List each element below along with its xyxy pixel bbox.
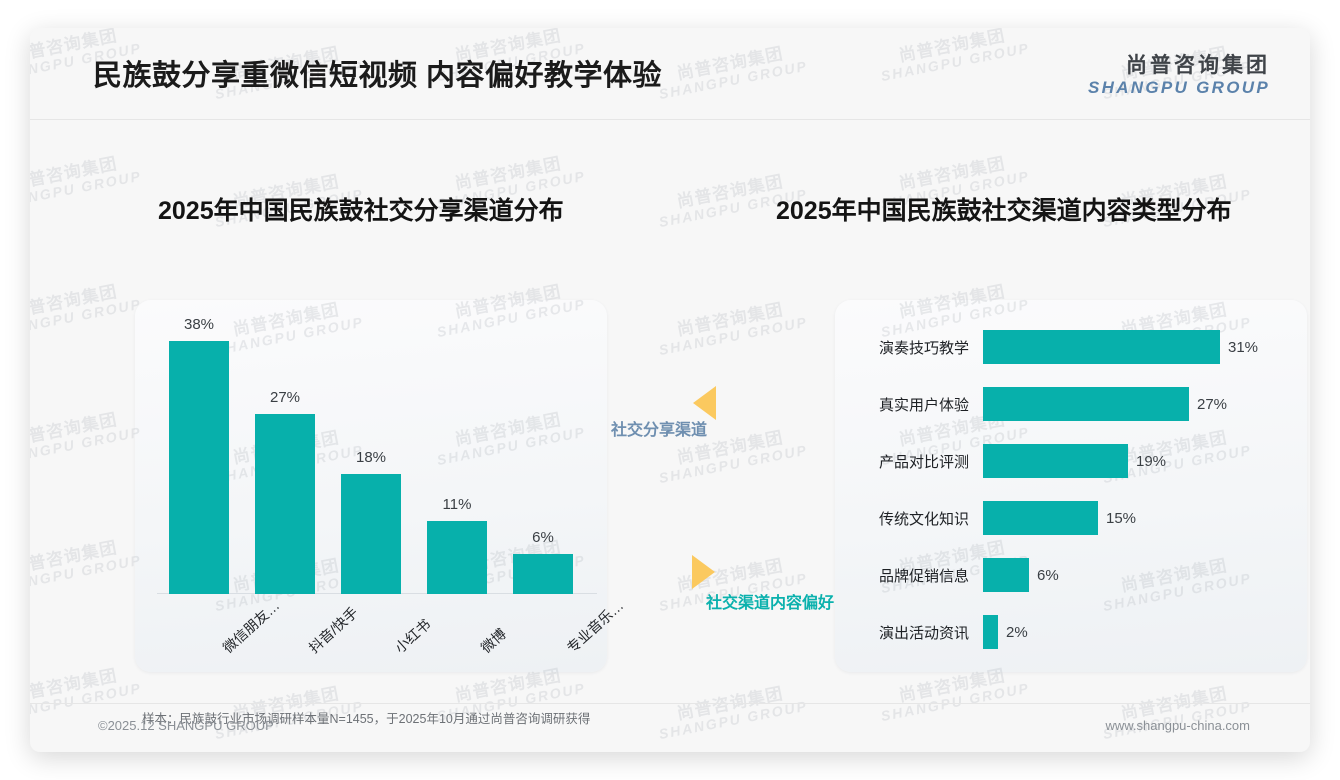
right-chart-title: 2025年中国民族鼓社交渠道内容类型分布 (776, 191, 1232, 227)
column-category-label: 小红书 (390, 643, 403, 658)
watermark-text: 尚普咨询集团SHANGPU GROUP (30, 278, 143, 341)
watermark-text: 尚普咨询集团SHANGPU GROUP (30, 150, 143, 213)
bar-row: 产品对比评测19% (835, 444, 1307, 478)
bar-track: 15% (983, 501, 1307, 535)
triangle-right-icon (692, 555, 715, 589)
column-value-label: 18% (341, 449, 401, 466)
column-bar[interactable] (255, 414, 315, 594)
column-value-label: 38% (169, 316, 229, 333)
bar-category-label: 真实用户体验 (835, 394, 983, 415)
column-category-label: 微信朋友… (218, 643, 231, 658)
bar-track: 6% (983, 558, 1307, 592)
copyright-text: ©2025.12 SHANGPU GROUP (98, 718, 274, 733)
bar-category-label: 演奏技巧教学 (835, 337, 983, 358)
column-item: 6% (513, 314, 573, 594)
column-bar[interactable] (169, 341, 229, 594)
bar-row: 演奏技巧教学31% (835, 330, 1307, 364)
annotation-social-share-channel: 社交分享渠道 (693, 386, 716, 420)
left-chart-title: 2025年中国民族鼓社交分享渠道分布 (158, 191, 564, 227)
annotation-content-preference: 社交渠道内容偏好 (692, 555, 715, 589)
bar-value-label: 2% (1006, 624, 1028, 641)
bar-fill[interactable] (983, 615, 998, 649)
bar-value-label: 27% (1197, 396, 1227, 413)
column-item: 11% (427, 314, 487, 594)
watermark-text: 尚普咨询集团SHANGPU GROUP (30, 406, 143, 469)
bar-category-label: 演出活动资讯 (835, 622, 983, 643)
bar-row: 演出活动资讯2% (835, 615, 1307, 649)
watermark-text: 尚普咨询集团SHANGPU GROUP (30, 534, 143, 597)
bar-row: 品牌促销信息6% (835, 558, 1307, 592)
watermark-text: 尚普咨询集团SHANGPU GROUP (654, 296, 809, 359)
column-value-label: 27% (255, 389, 315, 406)
slide-frame: 尚普咨询集团SHANGPU GROUP尚普咨询集团SHANGPU GROUP尚普… (30, 28, 1310, 752)
bar-track: 31% (983, 330, 1307, 364)
column-category-label: 微博 (476, 643, 489, 658)
logo-english-text: SHANGPU GROUP (1088, 78, 1270, 98)
bar-value-label: 31% (1228, 339, 1258, 356)
slide-footer: ©2025.12 SHANGPU GROUP www.shangpu-china… (30, 703, 1310, 752)
column-chart-plot-area: 38%27%18%11%6% (157, 314, 597, 594)
social-share-channel-column-chart: 38%27%18%11%6% 微信朋友…抖音/快手小红书微博专业音乐… (135, 300, 607, 672)
annotation-label: 社交分享渠道 (611, 416, 707, 440)
bar-row: 传统文化知识15% (835, 501, 1307, 535)
column-item: 18% (341, 314, 401, 594)
bar-fill[interactable] (983, 387, 1189, 421)
column-bar[interactable] (341, 474, 401, 594)
column-value-label: 6% (513, 529, 573, 546)
bar-value-label: 6% (1037, 567, 1059, 584)
column-bar[interactable] (427, 521, 487, 594)
column-item: 38% (169, 314, 229, 594)
bar-category-label: 产品对比评测 (835, 451, 983, 472)
column-category-label: 抖音/快手 (304, 643, 317, 658)
bar-track: 19% (983, 444, 1307, 478)
bar-value-label: 19% (1136, 453, 1166, 470)
logo-chinese-text: 尚普咨询集团 (1088, 54, 1270, 78)
page-title: 民族鼓分享重微信短视频 内容偏好教学体验 (93, 52, 662, 94)
website-link[interactable]: www.shangpu-china.com (1105, 718, 1250, 733)
slide-page: 尚普咨询集团SHANGPU GROUP尚普咨询集团SHANGPU GROUP尚普… (0, 0, 1340, 780)
content-type-bar-chart: 演奏技巧教学31%真实用户体验27%产品对比评测19%传统文化知识15%品牌促销… (835, 300, 1307, 672)
column-bar[interactable] (513, 554, 573, 594)
bar-category-label: 品牌促销信息 (835, 565, 983, 586)
bar-fill[interactable] (983, 558, 1029, 592)
bar-track: 2% (983, 615, 1307, 649)
column-category-label: 专业音乐… (562, 643, 575, 658)
bar-category-label: 传统文化知识 (835, 508, 983, 529)
bar-row: 真实用户体验27% (835, 387, 1307, 421)
column-value-label: 11% (427, 496, 487, 513)
bar-fill[interactable] (983, 330, 1220, 364)
annotation-label: 社交渠道内容偏好 (706, 589, 834, 613)
brand-logo: 尚普咨询集团 SHANGPU GROUP (1088, 54, 1270, 98)
bar-fill[interactable] (983, 501, 1098, 535)
bar-value-label: 15% (1106, 510, 1136, 527)
bar-fill[interactable] (983, 444, 1128, 478)
column-item: 27% (255, 314, 315, 594)
slide-header: 民族鼓分享重微信短视频 内容偏好教学体验 尚普咨询集团 SHANGPU GROU… (30, 28, 1310, 120)
bar-track: 27% (983, 387, 1307, 421)
triangle-left-icon (693, 386, 716, 420)
